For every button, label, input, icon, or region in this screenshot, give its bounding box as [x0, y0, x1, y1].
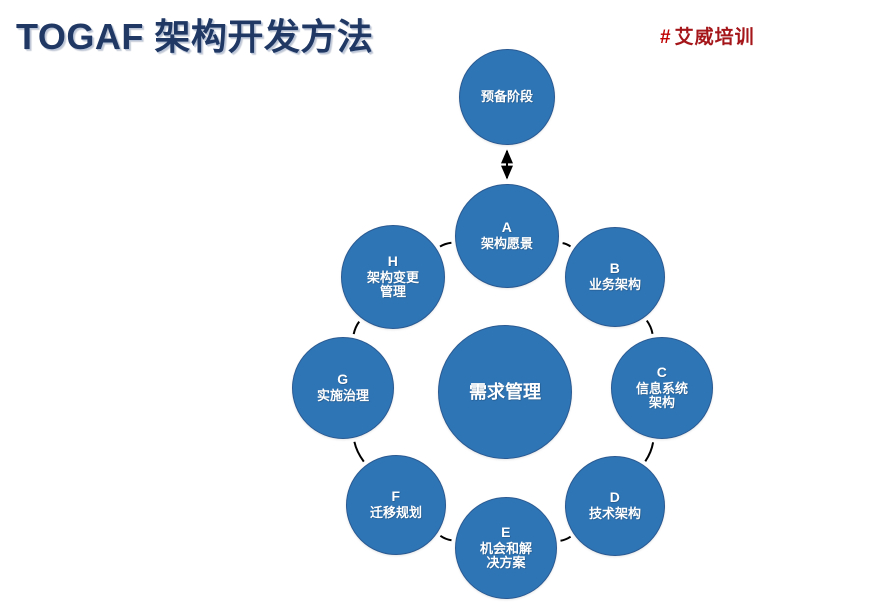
ring-link-phase-g-phase-h [354, 322, 360, 335]
node-requirements[interactable]: 需求管理 [438, 325, 572, 459]
ring-link-phase-a-phase-b [563, 243, 571, 246]
node-letter: C [657, 365, 668, 381]
node-phase-a[interactable]: A架构愿景 [455, 184, 559, 288]
ring-link-phase-e-phase-f [440, 536, 451, 541]
togaf-adm-diagram: 需求管理预备阶段A架构愿景B业务架构C信息系统 架构D技术架构E机会和解 决方案… [0, 0, 883, 607]
node-label: 业务架构 [589, 278, 641, 293]
ring-link-phase-f-phase-g [354, 442, 363, 462]
slide-canvas: TOGAF 架构开发方法 #艾威培训 需求管理预备阶段A架构愿景B业务架构C信息… [0, 0, 883, 607]
ring-link-phase-c-phase-d [645, 442, 653, 461]
node-label: 机会和解 决方案 [480, 542, 532, 571]
node-label: 信息系统 架构 [636, 382, 688, 411]
node-phase-d[interactable]: D技术架构 [565, 456, 665, 556]
node-letter: D [610, 490, 621, 506]
ring-link-phase-h-phase-a [440, 243, 451, 247]
node-preliminary[interactable]: 预备阶段 [459, 49, 555, 145]
node-letter: F [391, 489, 400, 505]
node-letter: B [610, 261, 621, 277]
ring-link-phase-b-phase-c [647, 321, 653, 334]
ring-link-phase-d-phase-e [561, 537, 571, 541]
node-label: 预备阶段 [481, 90, 533, 105]
node-phase-b[interactable]: B业务架构 [565, 227, 665, 327]
node-label: 迁移规划 [370, 506, 422, 521]
node-label: 架构变更 管理 [367, 271, 419, 300]
node-label: 实施治理 [317, 389, 369, 404]
node-phase-f[interactable]: F迁移规划 [346, 455, 446, 555]
node-phase-h[interactable]: H架构变更 管理 [341, 225, 445, 329]
node-letter: H [388, 254, 399, 270]
node-label: 架构愿景 [481, 237, 533, 252]
node-label: 需求管理 [469, 382, 541, 402]
node-phase-e[interactable]: E机会和解 决方案 [455, 497, 557, 599]
node-phase-c[interactable]: C信息系统 架构 [611, 337, 713, 439]
node-letter: G [337, 372, 348, 388]
node-letter: A [502, 220, 513, 236]
node-phase-g[interactable]: G实施治理 [292, 337, 394, 439]
node-label: 技术架构 [589, 507, 641, 522]
node-letter: E [501, 525, 511, 541]
